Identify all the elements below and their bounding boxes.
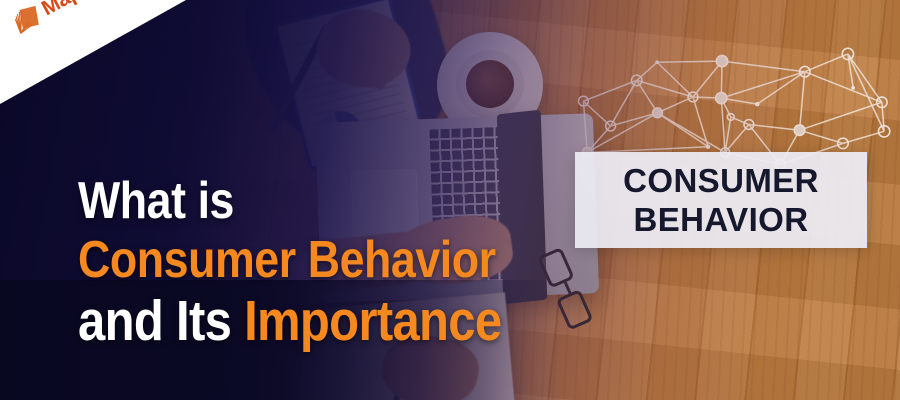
consumer-behavior-card: CONSUMER BEHAVIOR	[575, 152, 867, 248]
promo-banner: CONSUMER BEHAVIOR What is Consumer Behav…	[0, 0, 900, 400]
headline-line-3-plain: and Its	[78, 289, 244, 353]
logo-corner[interactable]: Map My Course	[0, 0, 200, 112]
headline-line-1: What is	[78, 176, 501, 227]
card-title-line-2: BEHAVIOR	[634, 203, 809, 236]
card-title-line-1: CONSUMER	[623, 164, 819, 197]
headline-line-3: and Its Importance	[78, 294, 501, 350]
headline-block: What is Consumer Behavior and Its Import…	[78, 176, 570, 350]
headline-line-2: Consumer Behavior	[78, 235, 501, 286]
headline-line-3-accent: Importance	[244, 289, 501, 353]
